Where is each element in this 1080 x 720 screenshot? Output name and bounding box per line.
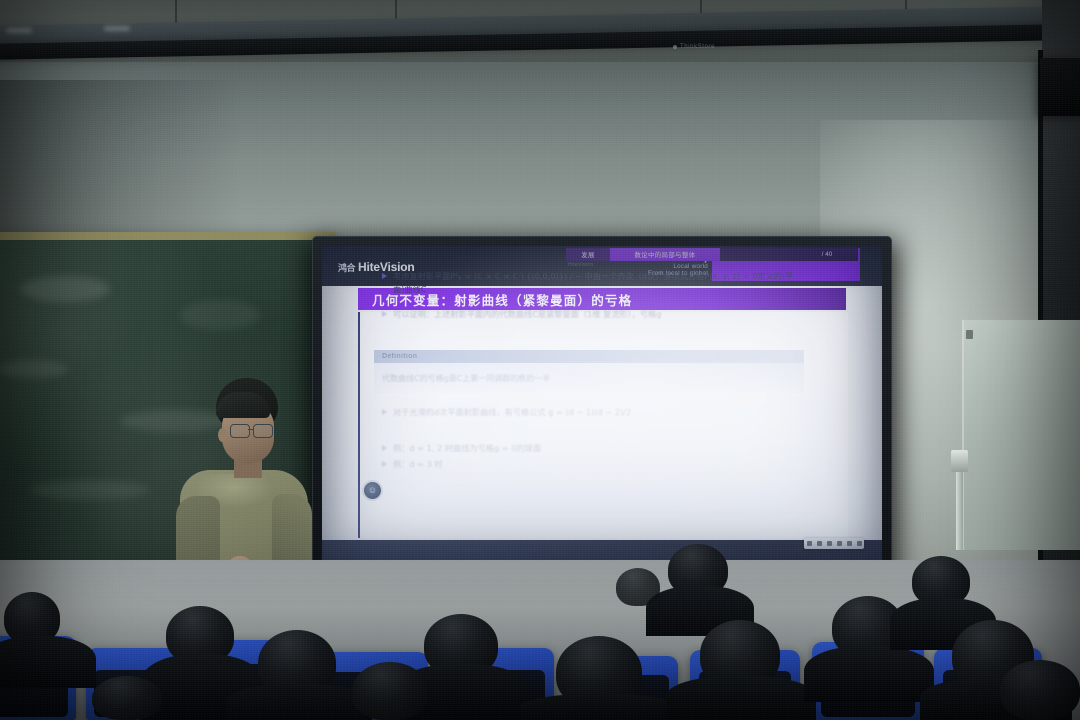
bullet-text: 例：d = 3 时 xyxy=(393,458,443,471)
ceiling-device-indicator xyxy=(673,45,677,49)
audience-head xyxy=(1000,660,1080,720)
toolbox-icon[interactable] xyxy=(847,541,852,546)
slide-page-indicator: / 40 xyxy=(800,248,854,261)
audience-head xyxy=(352,662,428,720)
keyboard-icon[interactable] xyxy=(837,541,842,546)
bullet-item: 例：d = 1, 2 时曲线为亏格g = 0的球面 xyxy=(382,442,802,455)
footer-left-segment: 发展 xyxy=(566,248,610,261)
glasses-icon xyxy=(230,424,274,437)
audience-shoulders xyxy=(666,676,816,720)
definition-body: 代数曲线C的亏格g是C上第一同调群的秩的一半 xyxy=(374,363,804,393)
definition-text: 代数曲线C的亏格g是C上第一同调群的秩的一半 xyxy=(382,373,550,384)
definition-block: Definition 代数曲线C的亏格g是C上第一同调群的秩的一半 xyxy=(374,350,804,393)
lecture-hall-photo: ThinkStore POWER 鸿合 HiteVision xyxy=(0,0,1080,720)
chinese-english-icon[interactable] xyxy=(817,541,822,546)
punctuation-icon[interactable] xyxy=(827,541,832,546)
definition-heading-bar: Definition xyxy=(374,350,804,363)
presentation-slide[interactable]: 鸿合 HiteVision Introduction Global study … xyxy=(322,246,882,566)
settings-icon[interactable] xyxy=(857,541,862,546)
audience-shoulders xyxy=(0,636,96,688)
whiteboard-clip xyxy=(966,330,973,339)
ime-toolbar[interactable] xyxy=(804,538,864,549)
smiley-widget-icon[interactable]: ☺ xyxy=(364,482,381,499)
whiteboard-tray xyxy=(951,450,968,472)
slide-body xyxy=(358,312,848,538)
bullet-text: 对于光滑的d次平面射影曲线，有亏格公式 g = (d − 1)(d − 2)/2 xyxy=(393,406,631,419)
wall-speaker xyxy=(1040,58,1080,116)
footer-center-segment: 数论中的局部与整体 xyxy=(610,248,720,261)
bullet-text: 可以证明：上述射影平面内的代数曲线C是紧黎曼面（1维 复流形），亏格g xyxy=(393,308,661,321)
audience-shoulders xyxy=(804,646,934,702)
audience-head xyxy=(616,568,660,606)
bullet-item: 可以证明：上述射影平面内的代数曲线C是紧黎曼面（1维 复流形），亏格g xyxy=(382,308,802,321)
brand-name-cn: 鸿合 xyxy=(338,261,355,274)
ime-mode-icon[interactable] xyxy=(807,541,812,546)
bullet-triangle-icon xyxy=(382,461,387,467)
bullet-item: 对于光滑的d次平面射影曲线，有亏格公式 g = (d − 1)(d − 2)/2 xyxy=(382,406,802,419)
ceiling-device-label: ThinkStore xyxy=(680,44,715,50)
bullet-item: 考虑复射影平面P²𝒸 = (ℂ × ℂ × ℂ \ {(0,0,0)}) / ∼… xyxy=(382,270,802,295)
audience-head xyxy=(92,676,162,720)
footer-brand-label: HiteVision xyxy=(568,262,593,268)
display-screen[interactable]: 鸿合 HiteVision Introduction Global study … xyxy=(322,246,882,566)
audience-shoulders xyxy=(226,684,372,720)
bullet-triangle-icon xyxy=(382,311,387,317)
audience-shoulders xyxy=(520,694,680,720)
bullet-text: 考虑复射影平面P²𝒸 = (ℂ × ℂ × ℂ \ {(0,0,0)}) / ∼… xyxy=(393,270,802,295)
bullet-triangle-icon xyxy=(382,445,387,451)
bullet-triangle-icon xyxy=(382,273,387,279)
bullet-triangle-icon xyxy=(382,409,387,415)
bullet-text: 例：d = 1, 2 时曲线为亏格g = 0的球面 xyxy=(393,442,541,455)
bullet-item: 例：d = 3 时 xyxy=(382,458,582,471)
whiteboard xyxy=(962,320,1080,550)
definition-heading: Definition xyxy=(382,353,417,360)
